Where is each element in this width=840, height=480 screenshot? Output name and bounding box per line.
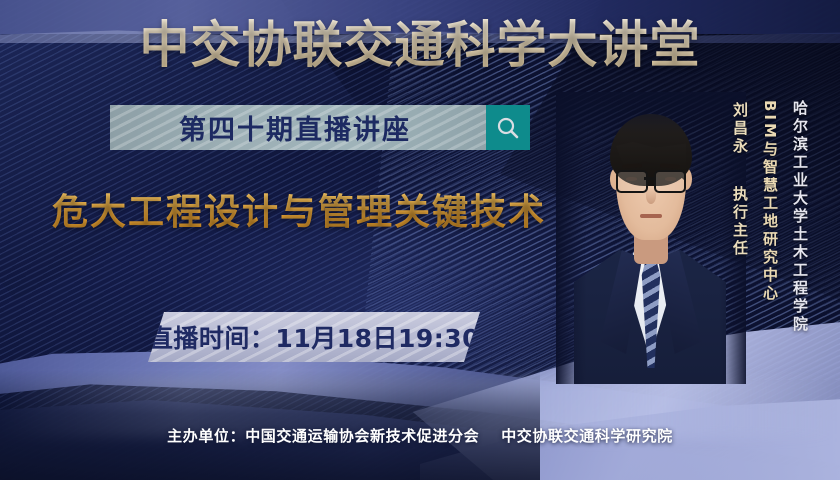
speaker-name: 刘昌永: [730, 102, 751, 156]
poster-canvas: 中交协联交通科学大讲堂 第四十期直播讲座 危大工程设计与管理关键技术 直播时间：…: [0, 0, 840, 480]
footer-org-1: 中国交通运输协会新技术促进分会: [245, 427, 479, 445]
speaker-center: BIM与智慧工地研究中心: [760, 100, 784, 303]
glasses-icon: [616, 170, 686, 190]
glasses-lens-right: [654, 170, 686, 193]
episode-banner-label: 第四十期直播讲座: [110, 105, 486, 150]
speaker-school: 哈尔滨工业大学土木工程学院: [790, 100, 811, 334]
speaker-center-rest: 与智慧工地研究中心: [761, 141, 779, 303]
lecture-headline: 危大工程设计与管理关键技术: [52, 190, 572, 236]
speaker-role: 执行主任: [730, 186, 751, 258]
episode-banner-bar: 第四十期直播讲座: [110, 105, 486, 150]
portrait-mouth: [640, 214, 662, 218]
search-icon[interactable]: [486, 105, 530, 150]
portrait-nose: [646, 188, 656, 204]
glasses-lens-left: [616, 170, 648, 193]
episode-banner: 第四十期直播讲座: [110, 105, 530, 150]
broadcast-time-label: 直播时间：11月18日19:30: [148, 319, 480, 355]
footer-org-2: 中交协联交通科学研究院: [501, 427, 673, 445]
broadcast-time-chip: 直播时间：11月18日19:30: [148, 312, 480, 362]
speaker-center-prefix: BIM: [761, 100, 779, 141]
footer-sponsors: 主办单位：中国交通运输协会新技术促进分会中交协联交通科学研究院: [0, 425, 840, 446]
speaker-portrait: [572, 92, 728, 384]
page-title: 中交协联交通科学大讲堂: [0, 16, 840, 74]
footer-prefix: 主办单位：: [167, 427, 245, 445]
